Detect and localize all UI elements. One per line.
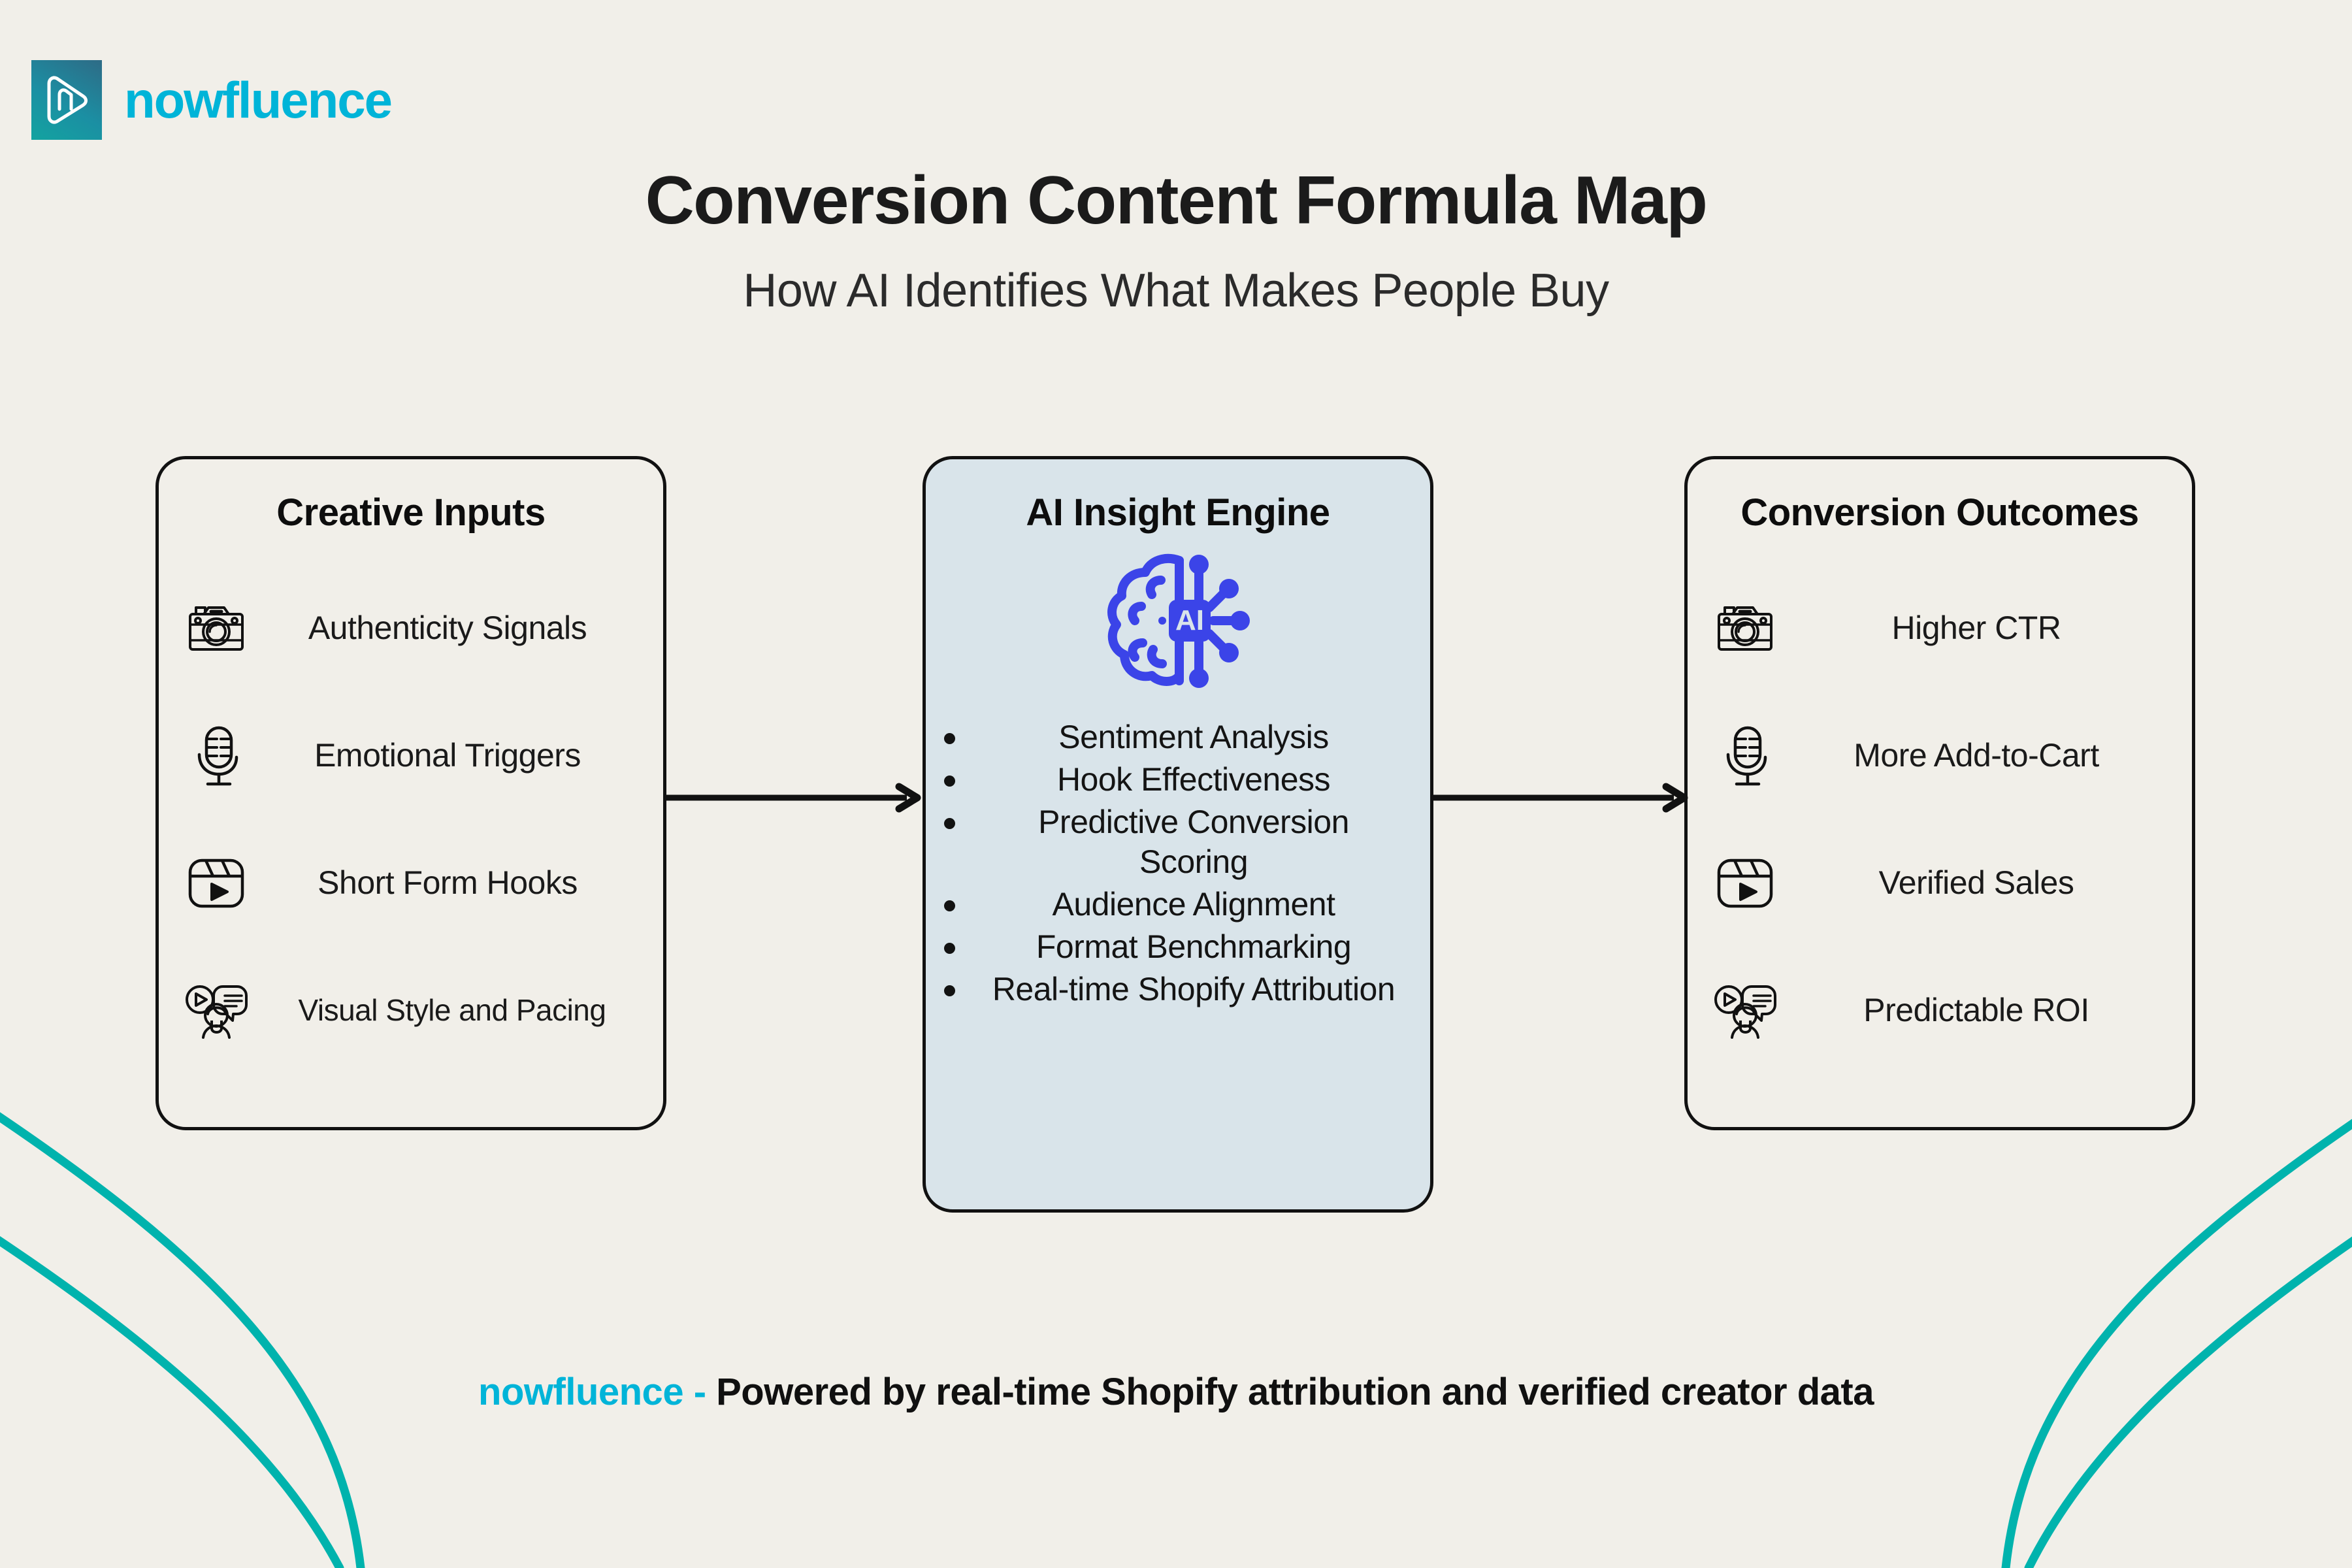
play-n-logo-icon [31,60,102,140]
conversion-outcomes-list: Higher CTR More Add-to-Cart [1688,564,2192,1074]
creative-inputs-list: Authenticity Signals Emotional Triggers [159,564,663,1074]
footer-text: Powered by real-time Shopify attribution… [716,1371,1874,1413]
camera-icon [1711,595,1779,662]
arrow-engine-to-outcomes [1433,775,1690,821]
list-item: Format Benchmarking [981,927,1400,967]
curve-left-outer [0,1104,361,1568]
title-block: Conversion Content Formula Map How AI Id… [0,163,2352,319]
conversion-outcomes-box: Conversion Outcomes Higher CTR [1684,456,2195,1130]
list-item-label: Verified Sales [1779,864,2192,902]
brand-logo[interactable]: nowfluence [31,60,391,140]
list-item[interactable]: More Add-to-Cart [1688,692,2192,819]
ai-insight-engine-title: AI Insight Engine [926,491,1430,534]
list-item-label: Visual Style and Pacing [250,993,663,1028]
ai-brain-chip-icon: AI [926,551,1430,690]
list-item-label: Authenticity Signals [250,610,663,647]
list-item-label: Emotional Triggers [250,737,663,775]
list-item-label: Higher CTR [1779,610,2192,647]
list-item: Hook Effectiveness [981,760,1400,800]
list-item: Predictive Conversion Scoring [981,802,1400,882]
curve-right-outer [2006,1111,2352,1568]
brand-wordmark: nowfluence [124,74,391,125]
camera-icon [182,595,250,662]
creator-speech-icon [182,977,250,1045]
reel-play-icon [1711,849,1779,917]
list-item-label: More Add-to-Cart [1779,737,2192,775]
list-item-label: Short Form Hooks [250,864,663,902]
creator-speech-icon [1711,977,1779,1045]
list-item: Real-time Shopify Attribution [981,970,1400,1009]
list-item[interactable]: Verified Sales [1688,819,2192,947]
list-item[interactable]: Emotional Triggers [159,692,663,819]
list-item-label: Predictable ROI [1779,992,2192,1030]
ai-insight-engine-bullets: Sentiment Analysis Hook Effectiveness Pr… [926,717,1430,1009]
svg-text:AI: AI [1175,604,1204,636]
footer-note: nowfluence - Powered by real-time Shopif… [0,1365,2352,1419]
list-item[interactable]: Predictable ROI [1688,947,2192,1074]
conversion-outcomes-title: Conversion Outcomes [1688,491,2192,534]
reel-play-icon [182,849,250,917]
creative-inputs-box: Creative Inputs Authenticity Signals [155,456,666,1130]
list-item[interactable]: Short Form Hooks [159,819,663,947]
page-subtitle: How AI Identifies What Makes People Buy [0,263,2352,319]
list-item[interactable]: Authenticity Signals [159,564,663,692]
microphone-icon [182,722,250,790]
arrow-inputs-to-engine [666,775,923,821]
footer-brand: nowfluence - [478,1371,716,1413]
page-title: Conversion Content Formula Map [0,163,2352,238]
microphone-icon [1711,722,1779,790]
list-item: Sentiment Analysis [981,717,1400,757]
list-item[interactable]: Visual Style and Pacing [159,947,663,1074]
ai-insight-engine-box: AI Insight Engine [923,456,1433,1213]
list-item: Audience Alignment [981,885,1400,924]
list-item[interactable]: Higher CTR [1688,564,2192,692]
creative-inputs-title: Creative Inputs [159,491,663,534]
